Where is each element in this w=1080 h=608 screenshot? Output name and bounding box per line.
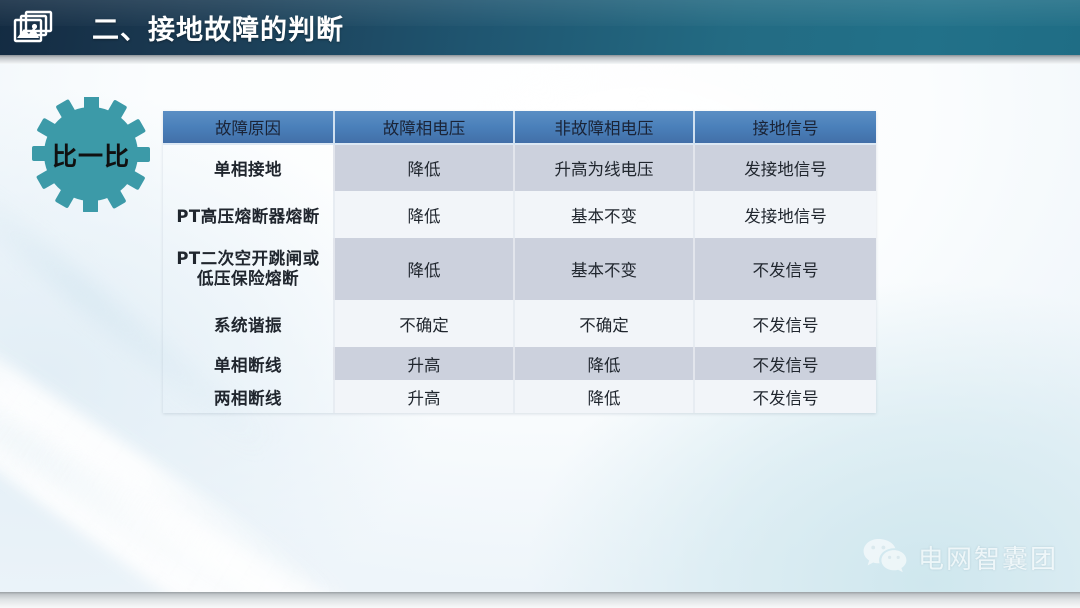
- cell-ground-signal: 不发信号: [695, 238, 876, 300]
- cell-ground-signal: 不发信号: [695, 347, 876, 380]
- table-row: 系统谐振 不确定 不确定 不发信号: [163, 300, 876, 347]
- table-row: 单相断线 升高 降低 不发信号: [163, 347, 876, 380]
- cell-fault-phase-voltage: 不确定: [335, 300, 515, 347]
- page-title: 二、接地故障的判断: [92, 8, 344, 47]
- cell-nonfault-phase-voltage: 基本不变: [515, 191, 695, 238]
- bottom-frame-strip: [0, 592, 1080, 608]
- cell-fault-phase-voltage: 降低: [335, 191, 515, 238]
- gear-icon: [16, 97, 166, 212]
- slide-header: 二、接地故障的判断: [0, 0, 1080, 55]
- cell-fault-phase-voltage: 降低: [335, 238, 515, 300]
- cell-nonfault-phase-voltage: 降低: [515, 347, 695, 380]
- cell-nonfault-phase-voltage: 基本不变: [515, 238, 695, 300]
- wechat-icon: [862, 537, 908, 578]
- cell-nonfault-phase-voltage: 降低: [515, 380, 695, 413]
- table-row: PT高压熔断器熔断 降低 基本不变 发接地信号: [163, 191, 876, 238]
- column-header-nonfault-phase: 非故障相电压: [515, 111, 695, 145]
- cell-cause: 两相断线: [163, 380, 335, 413]
- cell-cause: 单相断线: [163, 347, 335, 380]
- cell-nonfault-phase-voltage: 升高为线电压: [515, 145, 695, 191]
- cell-fault-phase-voltage: 降低: [335, 145, 515, 191]
- cell-nonfault-phase-voltage: 不确定: [515, 300, 695, 347]
- cell-fault-phase-voltage: 升高: [335, 347, 515, 380]
- header-underline-strip: [0, 55, 1080, 64]
- cell-fault-phase-voltage: 升高: [335, 380, 515, 413]
- column-header-cause: 故障原因: [163, 111, 335, 145]
- cell-ground-signal: 发接地信号: [695, 145, 876, 191]
- table-header-row: 故障原因 故障相电压 非故障相电压 接地信号: [163, 111, 876, 145]
- cell-ground-signal: 不发信号: [695, 300, 876, 347]
- table-row: 单相接地 降低 升高为线电压 发接地信号: [163, 145, 876, 191]
- cell-ground-signal: 发接地信号: [695, 191, 876, 238]
- images-stack-icon: [10, 8, 56, 48]
- fault-judgement-table: 故障原因 故障相电压 非故障相电压 接地信号 单相接地 降低 升高为线电压 发接…: [163, 111, 876, 413]
- column-header-fault-phase: 故障相电压: [335, 111, 515, 145]
- watermark-text: 电网智囊团: [918, 539, 1058, 576]
- cell-cause: PT高压熔断器熔断: [163, 191, 335, 238]
- column-header-ground-signal: 接地信号: [695, 111, 876, 145]
- cell-cause: 系统谐振: [163, 300, 335, 347]
- cell-cause: PT二次空开跳闸或低压保险熔断: [163, 238, 335, 300]
- watermark: 电网智囊团: [862, 537, 1058, 578]
- slide: 二、接地故障的判断: [0, 0, 1080, 608]
- cell-ground-signal: 不发信号: [695, 380, 876, 413]
- cell-cause: 单相接地: [163, 145, 335, 191]
- table-row: PT二次空开跳闸或低压保险熔断 降低 基本不变 不发信号: [163, 238, 876, 300]
- table-row: 两相断线 升高 降低 不发信号: [163, 380, 876, 413]
- compare-badge: 比一比: [16, 97, 166, 212]
